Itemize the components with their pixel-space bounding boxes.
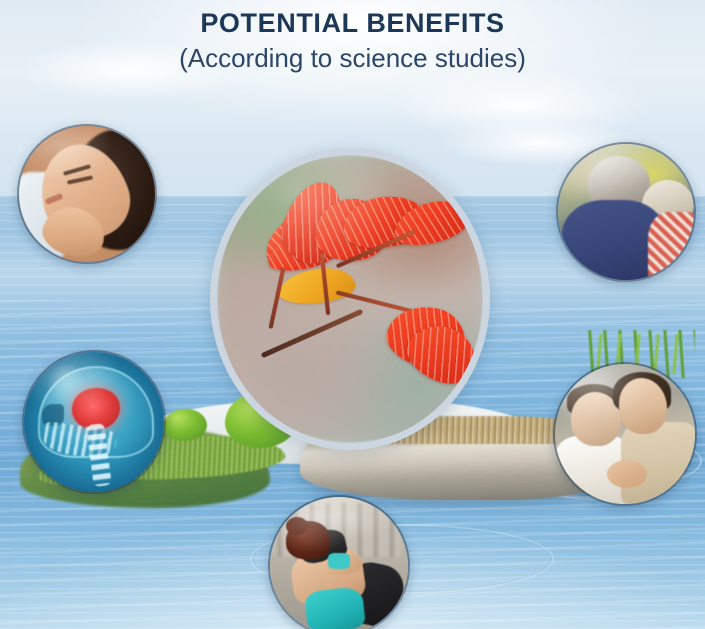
page-title-block: POTENTIAL BENEFITS (According to science…	[0, 8, 705, 74]
caregiver-head	[619, 378, 667, 434]
bubble-fitness[interactable]	[268, 495, 410, 629]
teal-accent	[328, 553, 350, 569]
page-subtitle: (According to science studies)	[0, 43, 705, 74]
bubble-skin-health[interactable]	[17, 124, 157, 264]
green-pebble	[163, 409, 207, 441]
hero-circle-plant[interactable]	[210, 148, 490, 450]
hair-bun	[286, 517, 308, 535]
elderly-woman-body	[648, 212, 696, 282]
page-title: POTENTIAL BENEFITS	[0, 8, 705, 39]
bubble-elderly-care[interactable]	[553, 362, 697, 506]
bubble-healthy-aging[interactable]	[556, 142, 696, 282]
bubble-brain-health[interactable]	[22, 350, 166, 494]
benefits-infographic: POTENTIAL BENEFITS (According to science…	[0, 0, 705, 629]
clasped-hands	[607, 460, 647, 488]
teal-shorts	[304, 586, 366, 629]
